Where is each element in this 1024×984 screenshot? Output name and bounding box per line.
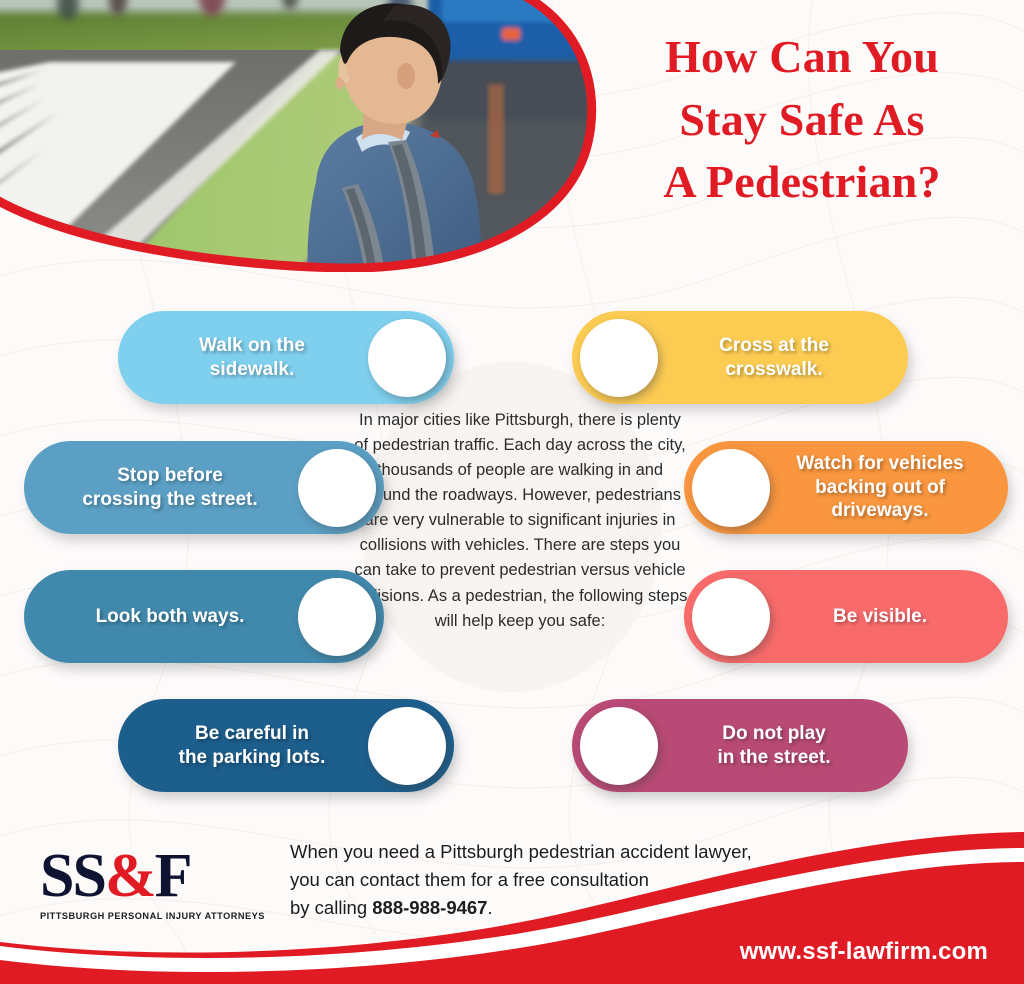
website-url[interactable]: www.ssf-lawfirm.com	[740, 938, 988, 966]
tip-be-visible[interactable]: Be visible.	[684, 570, 1008, 663]
tip-look-circle-icon	[298, 578, 376, 656]
title-line-2: Stay Safe As	[600, 89, 1004, 152]
tip-parking-label: Be careful in the parking lots.	[140, 722, 368, 769]
tip-visible-circle-icon	[692, 578, 770, 656]
tip-walk-on-the-sidewalk[interactable]: Walk on the sidewalk.	[118, 311, 454, 404]
footer-call-suffix: .	[487, 897, 492, 918]
footer-call-prefix: by calling	[290, 897, 372, 918]
tip-do-not-play-in-street[interactable]: Do not play in the street.	[572, 699, 908, 792]
logo-letter-f: F	[155, 842, 191, 910]
tip-walk-circle-icon	[368, 319, 446, 397]
tip-watch-circle-icon	[692, 449, 770, 527]
tip-watch-label: Watch for vehicles backing out of drivew…	[770, 452, 986, 523]
tip-play-label: Do not play in the street.	[658, 722, 886, 769]
title-line-3: A Pedestrian?	[600, 151, 1004, 214]
footer-contact-text: When you need a Pittsburgh pedestrian ac…	[290, 838, 860, 921]
tip-cross-at-the-crosswalk[interactable]: Cross at the crosswalk.	[572, 311, 908, 404]
logo-tagline: PITTSBURGH PERSONAL INJURY ATTORNEYS	[40, 911, 270, 921]
tip-watch-for-vehicles[interactable]: Watch for vehicles backing out of drivew…	[684, 441, 1008, 534]
tip-walk-label: Walk on the sidewalk.	[140, 334, 368, 381]
footer-line-3: by calling 888-988-9467.	[290, 894, 860, 922]
tip-play-circle-icon	[580, 707, 658, 785]
tip-cross-label: Cross at the crosswalk.	[658, 334, 886, 381]
tip-parking-circle-icon	[368, 707, 446, 785]
tip-stop-circle-icon	[298, 449, 376, 527]
logo-letter-s2: S	[72, 842, 104, 910]
tip-stop-label: Stop before crossing the street.	[46, 464, 298, 511]
tip-stop-before-crossing[interactable]: Stop before crossing the street.	[24, 441, 384, 534]
title-line-1: How Can You	[600, 26, 1004, 89]
infographic-page: How Can You Stay Safe As A Pedestrian? I…	[0, 0, 1024, 984]
phone-number[interactable]: 888-988-9467	[372, 897, 487, 918]
company-logo: SS&F PITTSBURGH PERSONAL INJURY ATTORNEY…	[40, 845, 270, 921]
tip-look-label: Look both ways.	[46, 605, 298, 629]
logo-ampersand: &	[105, 842, 155, 910]
intro-paragraph: In major cities like Pittsburgh, there i…	[352, 408, 688, 634]
footer-line-2: you can contact them for a free consulta…	[290, 866, 860, 894]
logo-letter-s1: S	[40, 842, 72, 910]
tip-look-both-ways[interactable]: Look both ways.	[24, 570, 384, 663]
tip-visible-label: Be visible.	[770, 605, 986, 629]
tip-be-careful-parking-lots[interactable]: Be careful in the parking lots.	[118, 699, 454, 792]
page-title: How Can You Stay Safe As A Pedestrian?	[600, 26, 1004, 214]
footer-line-1: When you need a Pittsburgh pedestrian ac…	[290, 838, 860, 866]
tip-cross-circle-icon	[580, 319, 658, 397]
hero-photo	[0, 0, 610, 272]
logo-wordmark: SS&F	[40, 845, 270, 907]
